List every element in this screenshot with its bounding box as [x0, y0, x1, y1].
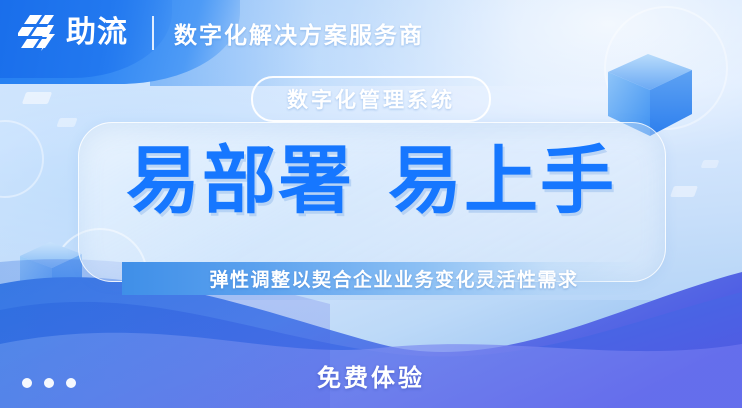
- brand-name: 助流: [66, 18, 128, 48]
- hero-subtitle: 弹性调整以契合企业业务变化灵活性需求: [185, 265, 578, 292]
- carousel-dot[interactable]: [66, 378, 76, 388]
- free-trial-button[interactable]: 免费体验: [0, 358, 742, 393]
- parallelogram-accent-icon: [22, 92, 52, 104]
- parallelogram-accent-icon: [56, 118, 77, 127]
- header-bar: 助流 数字化解决方案服务商: [0, 0, 742, 66]
- flow-lightning-logo-icon[interactable]: [18, 13, 60, 53]
- hero-headline: 易部署易上手: [0, 144, 742, 218]
- headline-part-2: 易上手: [388, 139, 616, 222]
- system-badge: 数字化管理系统: [251, 76, 491, 122]
- carousel-indicators[interactable]: [22, 378, 76, 388]
- headline-part-1: 易部署: [126, 139, 354, 222]
- carousel-dot[interactable]: [22, 378, 32, 388]
- hero-subtitle-bar: 弹性调整以契合企业业务变化灵活性需求: [122, 262, 642, 295]
- header-divider: [152, 16, 154, 50]
- carousel-dot[interactable]: [44, 378, 54, 388]
- promo-banner: 助流 数字化解决方案服务商 数字化管理系统 易部署易上手 弹性调整以契合企业业务…: [0, 0, 742, 408]
- header-tagline: 数字化解决方案服务商: [174, 16, 424, 50]
